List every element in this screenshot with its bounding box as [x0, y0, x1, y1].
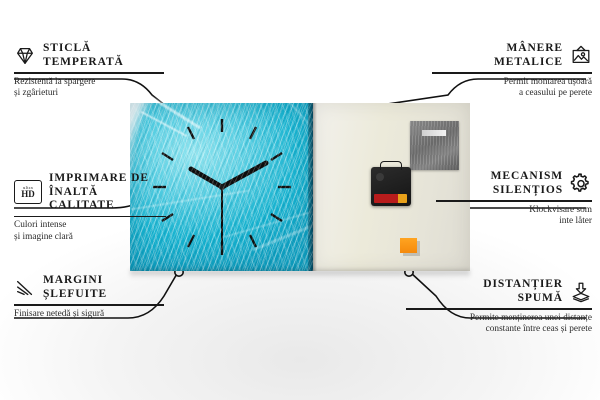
callout-desc-line-1: Rezistentă la spargere	[14, 77, 164, 89]
callout-title-line-2: SPUMĂ	[483, 292, 563, 306]
callout-desc-line-2: și imagine clară	[14, 232, 166, 244]
callout-tempered-glass[interactable]: STICLĂ TEMPERATĂ Rezistentă la spargere …	[14, 42, 164, 100]
callout-metal-handles[interactable]: MÂNERE METALICE Permit montarea ușoară a…	[432, 42, 592, 100]
callout-title-line-2: METALICE	[494, 56, 563, 70]
hanger-loop	[380, 161, 402, 170]
callout-desc-line-2: și zgârieturi	[14, 88, 164, 100]
callout-title-line-2: TEMPERATĂ	[43, 56, 124, 70]
foam-spacer-sample	[400, 238, 417, 253]
callout-rule	[406, 308, 592, 310]
callout-title-line-2: ȘLEFUITE	[43, 288, 107, 302]
callout-polished-edges[interactable]: MARGINI ȘLEFUITE Finisare netedă și sigu…	[14, 274, 164, 320]
callout-title-line-1: MECANISM	[491, 170, 563, 184]
callout-title-line-1: MÂNERE	[494, 42, 563, 56]
callout-desc-line-2: a ceasului pe perete	[432, 88, 592, 100]
callout-desc-line-1: Culori intense	[14, 220, 166, 232]
callout-rule	[14, 304, 164, 306]
diamond-icon	[14, 45, 36, 67]
battery	[374, 194, 407, 203]
diagonal-lines-icon	[14, 277, 36, 299]
callout-desc-line-1: Permit montarea ușoară	[432, 77, 592, 89]
callout-rule	[432, 72, 592, 74]
gear-icon	[570, 173, 592, 195]
callout-title-line-1: STICLĂ	[43, 42, 124, 56]
callout-title-line-1: DISTANȚIER	[483, 278, 563, 292]
callout-desc-line-1: Finisare netedă și sigură	[14, 309, 164, 321]
ultra-hd-large-text: HD	[21, 190, 35, 199]
clock-mechanism	[371, 167, 411, 206]
callout-silent-mechanism[interactable]: MECANISM SILENȚIOS Klockvisare som inte …	[436, 170, 592, 228]
callout-desc-line-1: Permite menținerea unei distanțe	[406, 313, 592, 325]
callout-title-line-2: ÎNALTĂ CALITATE	[49, 186, 166, 213]
product-photo	[130, 103, 470, 271]
callout-title-line-1: MARGINI	[43, 274, 107, 288]
callout-title-line-1: IMPRIMARE DE	[49, 172, 166, 186]
ultra-hd-icon: ultra HD	[14, 180, 42, 204]
callout-rule	[436, 200, 592, 202]
callout-desc-line-2: constante între ceas și perete	[406, 324, 592, 336]
callout-high-quality-print[interactable]: ultra HD IMPRIMARE DE ÎNALTĂ CALITATE Cu…	[14, 172, 166, 243]
callout-rule	[14, 72, 164, 74]
callout-title-line-2: SILENȚIOS	[491, 184, 563, 198]
metal-hanger-plate	[410, 121, 459, 170]
mechanism-knob	[376, 173, 384, 181]
press-down-icon	[570, 281, 592, 303]
callout-foam-spacer[interactable]: DISTANȚIER SPUMĂ Permite menținerea unei…	[406, 278, 592, 336]
picture-frame-icon	[570, 45, 592, 67]
infographic-canvas: STICLĂ TEMPERATĂ Rezistentă la spargere …	[0, 0, 600, 400]
callout-desc-line-2: inte låter	[436, 216, 592, 228]
callout-desc-line-1: Klockvisare som	[436, 205, 592, 217]
callout-rule	[14, 216, 166, 218]
